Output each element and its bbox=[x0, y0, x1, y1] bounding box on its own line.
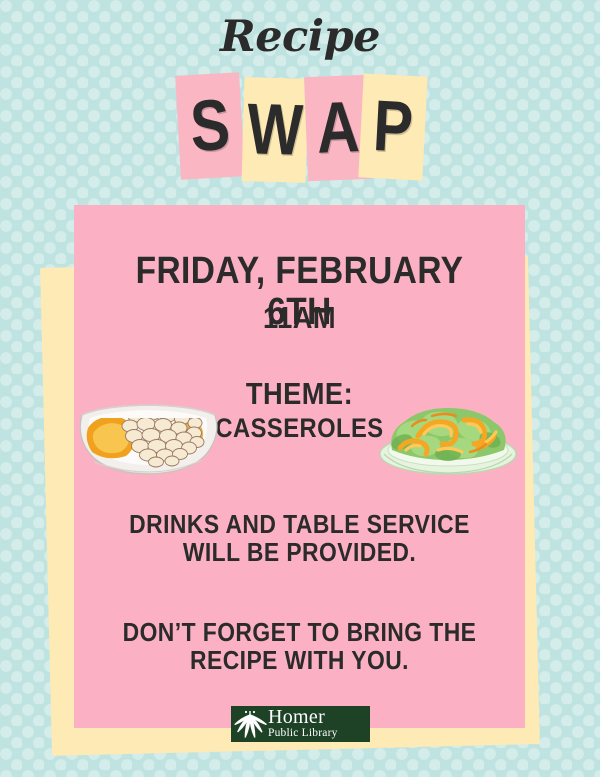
logo-name: Homer bbox=[268, 708, 338, 727]
casserole-dish-icon bbox=[76, 388, 221, 478]
recipe-swap-flyer: Recipe S W A P FRIDAY, FEBRUARY 6TH 11AM… bbox=[0, 0, 600, 777]
info-line-2: WILL BE PROVIDED. bbox=[101, 538, 498, 566]
salad-dish-icon bbox=[378, 396, 518, 478]
swap-tile-s: S bbox=[175, 72, 245, 179]
fern-leaf-icon bbox=[233, 707, 267, 741]
swap-letter-w: W bbox=[246, 93, 304, 167]
bring-block: DON’T FORGET TO BRING THE RECIPE WITH YO… bbox=[74, 618, 525, 674]
bring-line-1: DON’T FORGET TO BRING THE bbox=[101, 618, 498, 646]
swap-tile-p: P bbox=[358, 73, 427, 180]
swap-title-row: S W A P bbox=[0, 72, 600, 184]
event-time: 11AM bbox=[101, 301, 498, 334]
swap-tile-w: W bbox=[242, 77, 309, 183]
info-block: DRINKS AND TABLE SERVICE WILL BE PROVIDE… bbox=[74, 510, 525, 566]
swap-letter-s: S bbox=[188, 89, 231, 163]
swap-letter-a: A bbox=[315, 91, 360, 165]
info-line-1: DRINKS AND TABLE SERVICE bbox=[101, 510, 498, 538]
swap-letter-p: P bbox=[371, 90, 414, 164]
library-logo: Homer Public Library bbox=[231, 706, 370, 742]
page-title-recipe: Recipe bbox=[0, 16, 600, 59]
logo-text: Homer Public Library bbox=[268, 708, 338, 740]
bring-line-2: RECIPE WITH YOU. bbox=[101, 646, 498, 674]
logo-subtitle: Public Library bbox=[268, 727, 338, 739]
